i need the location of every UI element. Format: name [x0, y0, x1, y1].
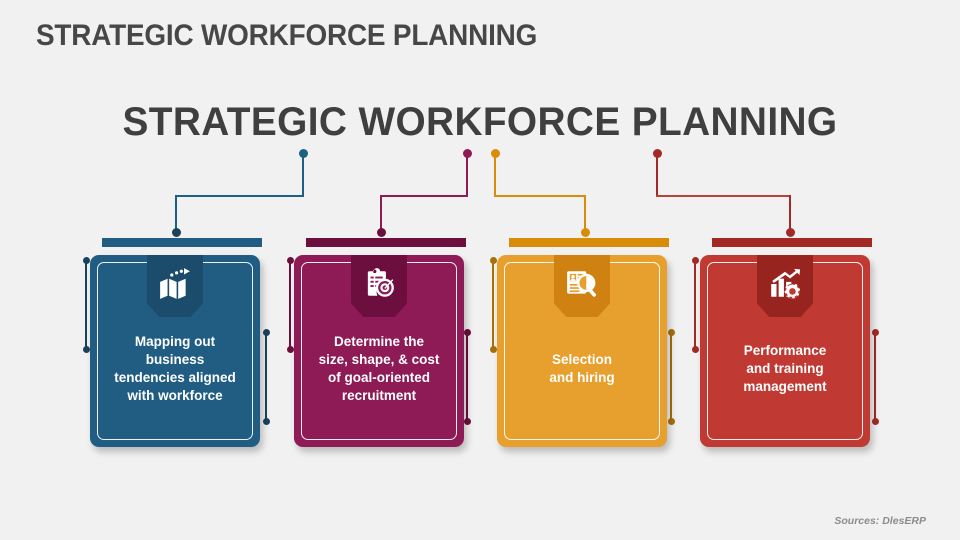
connector-3-horizontal [494, 195, 586, 197]
card-icon-banner [351, 255, 407, 317]
sideline-dot-bottom [692, 346, 699, 353]
sideline-right-4 [874, 332, 876, 422]
sideline-dot-top [464, 329, 471, 336]
slide-canvas: STRATEGIC WORKFORCE PLANNING STRATEGIC W… [0, 0, 960, 540]
connector-3-bottom-dot [581, 228, 590, 237]
source-credit: Sources: DlesERP [834, 515, 926, 527]
sideline-dot-top [83, 257, 90, 264]
card-icon-banner [554, 255, 610, 317]
card-label: Selection and hiring [539, 315, 624, 387]
connector-1-vertical-right [302, 154, 304, 197]
sideline-dot-top [872, 329, 879, 336]
sideline-dot-bottom [490, 346, 497, 353]
connector-4-vertical-left [656, 154, 658, 197]
sideline-dot-top [263, 329, 270, 336]
connector-1-bottom-dot [172, 228, 181, 237]
map-arrow-icon [158, 267, 192, 306]
sideline-dot-bottom [83, 346, 90, 353]
sideline-left-4 [694, 260, 696, 350]
clipboard-target-icon [362, 267, 396, 306]
sideline-left-1 [85, 260, 87, 350]
card-body[interactable]: Performance and training management [700, 255, 870, 447]
connector-2-horizontal [380, 195, 468, 197]
chart-gear-icon [768, 267, 802, 306]
sideline-dot-top [692, 257, 699, 264]
card-top-bar [509, 238, 669, 247]
connector-2-bottom-dot [377, 228, 386, 237]
sideline-right-1 [265, 332, 267, 422]
card-top-bar [102, 238, 262, 247]
connector-1-horizontal [175, 195, 304, 197]
connector-2-vertical-right [466, 154, 468, 197]
sideline-dot-bottom [668, 418, 675, 425]
header-title: STRATEGIC WORKFORCE PLANNING [36, 19, 537, 53]
card-body[interactable]: Selection and hiring [497, 255, 667, 447]
sideline-dot-bottom [464, 418, 471, 425]
sideline-dot-bottom [872, 418, 879, 425]
card-top-bar [306, 238, 466, 247]
connector-4-bottom-dot [786, 228, 795, 237]
page-title: STRATEGIC WORKFORCE PLANNING [14, 100, 945, 145]
sideline-right-3 [670, 332, 672, 422]
sideline-dot-top [287, 257, 294, 264]
sideline-left-2 [289, 260, 291, 350]
card-top-bar [712, 238, 872, 247]
sideline-dot-top [490, 257, 497, 264]
card-body[interactable]: Determine the size, shape, & cost of goa… [294, 255, 464, 447]
resume-search-icon [565, 267, 599, 306]
connector-3-vertical-left [494, 154, 496, 197]
sideline-dot-bottom [263, 418, 270, 425]
sideline-dot-top [668, 329, 675, 336]
sideline-left-3 [492, 260, 494, 350]
card-label: Performance and training management [733, 306, 836, 395]
sideline-dot-bottom [287, 346, 294, 353]
card-body[interactable]: Mapping out business tendencies aligned … [90, 255, 260, 447]
card-icon-banner [757, 255, 813, 317]
sideline-right-2 [466, 332, 468, 422]
connector-4-horizontal [656, 195, 791, 197]
card-icon-banner [147, 255, 203, 317]
